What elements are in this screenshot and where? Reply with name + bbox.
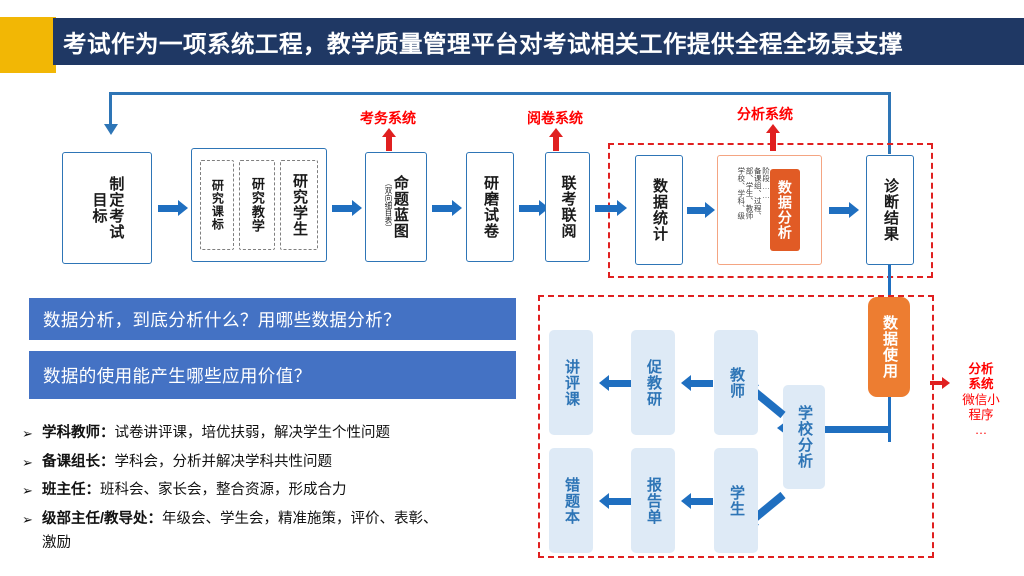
box-cuotiben[interactable]: 错题本 [549, 448, 593, 553]
box-xuesheng[interactable]: 学生 [714, 448, 758, 553]
arrow-cujiaoyan-to-jiangpingke [599, 375, 631, 391]
analysis-system-caption: 分析 系统 微信小 程序 … [944, 362, 1018, 438]
step-polish-paper[interactable]: 研磨试卷 [466, 152, 514, 262]
arrow-5 [595, 200, 627, 216]
arrow-jiaoshi-to-cujiaoyan [681, 375, 713, 391]
arrow-up-yuejuan [549, 128, 563, 151]
step-blueprint-note: （双向细目表） [384, 179, 392, 232]
step-data-statistics[interactable]: 数据统计 [635, 155, 683, 265]
header-accent-block [0, 17, 56, 73]
box-baogaodan[interactable]: 报告单 [631, 448, 675, 553]
step-data-analysis[interactable]: 数据分析 阶段…… 备课组、过程、 部、学生、教师 学校、学科、级 [717, 155, 822, 265]
bullet-arrow-icon: ➢ [22, 424, 42, 443]
list-item: ➢ 班主任：班科会、家长会，整合资源，形成合力 [22, 481, 542, 501]
list-item-continuation: 激励 [22, 531, 542, 552]
arrow-6 [687, 202, 715, 218]
arrow-2 [332, 200, 362, 216]
step-joint-exam-grading[interactable]: 联考联阅 [545, 152, 590, 262]
step-set-exam-goal-line1: 制定考试 [108, 176, 124, 240]
list-item: ➢ 学科教师：试卷讲评课，培优扶弱，解决学生个性问题 [22, 424, 542, 444]
label-yuejuan-system: 阅卷系统 [527, 108, 583, 128]
feedback-loop-line [109, 92, 891, 93]
link-datause-down [888, 397, 891, 442]
step-set-exam-goal-line2: 目标 [91, 192, 107, 224]
box-jiaoshi[interactable]: 教师 [714, 330, 758, 435]
sub-research-teaching[interactable]: 研究教学 [239, 160, 275, 250]
arrow-up-kaowu [382, 128, 396, 151]
question-bar-2: 数据的使用能产生哪些应用价值？ [29, 351, 516, 399]
sub-research-standard[interactable]: 研究课标 [200, 160, 234, 250]
arrow-xuesheng-to-baogaodan [681, 493, 713, 509]
arrow-baogaodan-to-cuotiben [599, 493, 631, 509]
label-fenxi-system: 分析系统 [737, 104, 793, 124]
step-research[interactable]: 研究学生 研究教学 研究课标 [191, 148, 327, 262]
bullet-list: ➢ 学科教师：试卷讲评课，培优扶弱，解决学生个性问题 ➢ 备课组长：学科会，分析… [22, 424, 542, 552]
data-use-box[interactable]: 数据使用 [868, 297, 910, 397]
question-bar-1: 数据分析，到底分析什么？用哪些数据分析？ [29, 298, 516, 340]
arrow-1 [158, 200, 188, 216]
step-data-analysis-pill: 数据分析 [770, 169, 800, 251]
page-title: 考试作为一项系统工程，教学质量管理平台对考试相关工作提供全程全场景支撑 [53, 25, 903, 59]
box-jiangpingke[interactable]: 讲评课 [549, 330, 593, 435]
step-data-analysis-note: 阶段…… 备课组、过程、 部、学生、教师 学校、学科、级 [737, 167, 770, 253]
bullet-arrow-icon: ➢ [22, 481, 42, 500]
list-item: ➢ 级部主任/教导处：年级会、学生会，精准施策，评价、表彰、 [22, 510, 542, 530]
bullet-arrow-icon: ➢ [22, 510, 42, 529]
step-blueprint[interactable]: 命题蓝图 （双向细目表） [365, 152, 427, 262]
box-cujiaoyan[interactable]: 促教研 [631, 330, 675, 435]
arrow-3 [432, 200, 462, 216]
header-banner: 考试作为一项系统工程，教学质量管理平台对考试相关工作提供全程全场景支撑 [53, 18, 1024, 65]
arrow-7 [829, 202, 859, 218]
bullet-arrow-icon: ➢ [22, 453, 42, 472]
list-item: ➢ 备课组长：学科会，分析并解决学科共性问题 [22, 453, 542, 473]
sub-research-students[interactable]: 研究学生 [280, 160, 318, 250]
label-kaowu-system: 考务系统 [360, 108, 416, 128]
step-blueprint-label: 命题蓝图 [392, 175, 408, 239]
step-diagnosis-result[interactable]: 诊断结果 [866, 155, 914, 265]
step-set-exam-goal[interactable]: 制定考试 目标 [62, 152, 152, 264]
